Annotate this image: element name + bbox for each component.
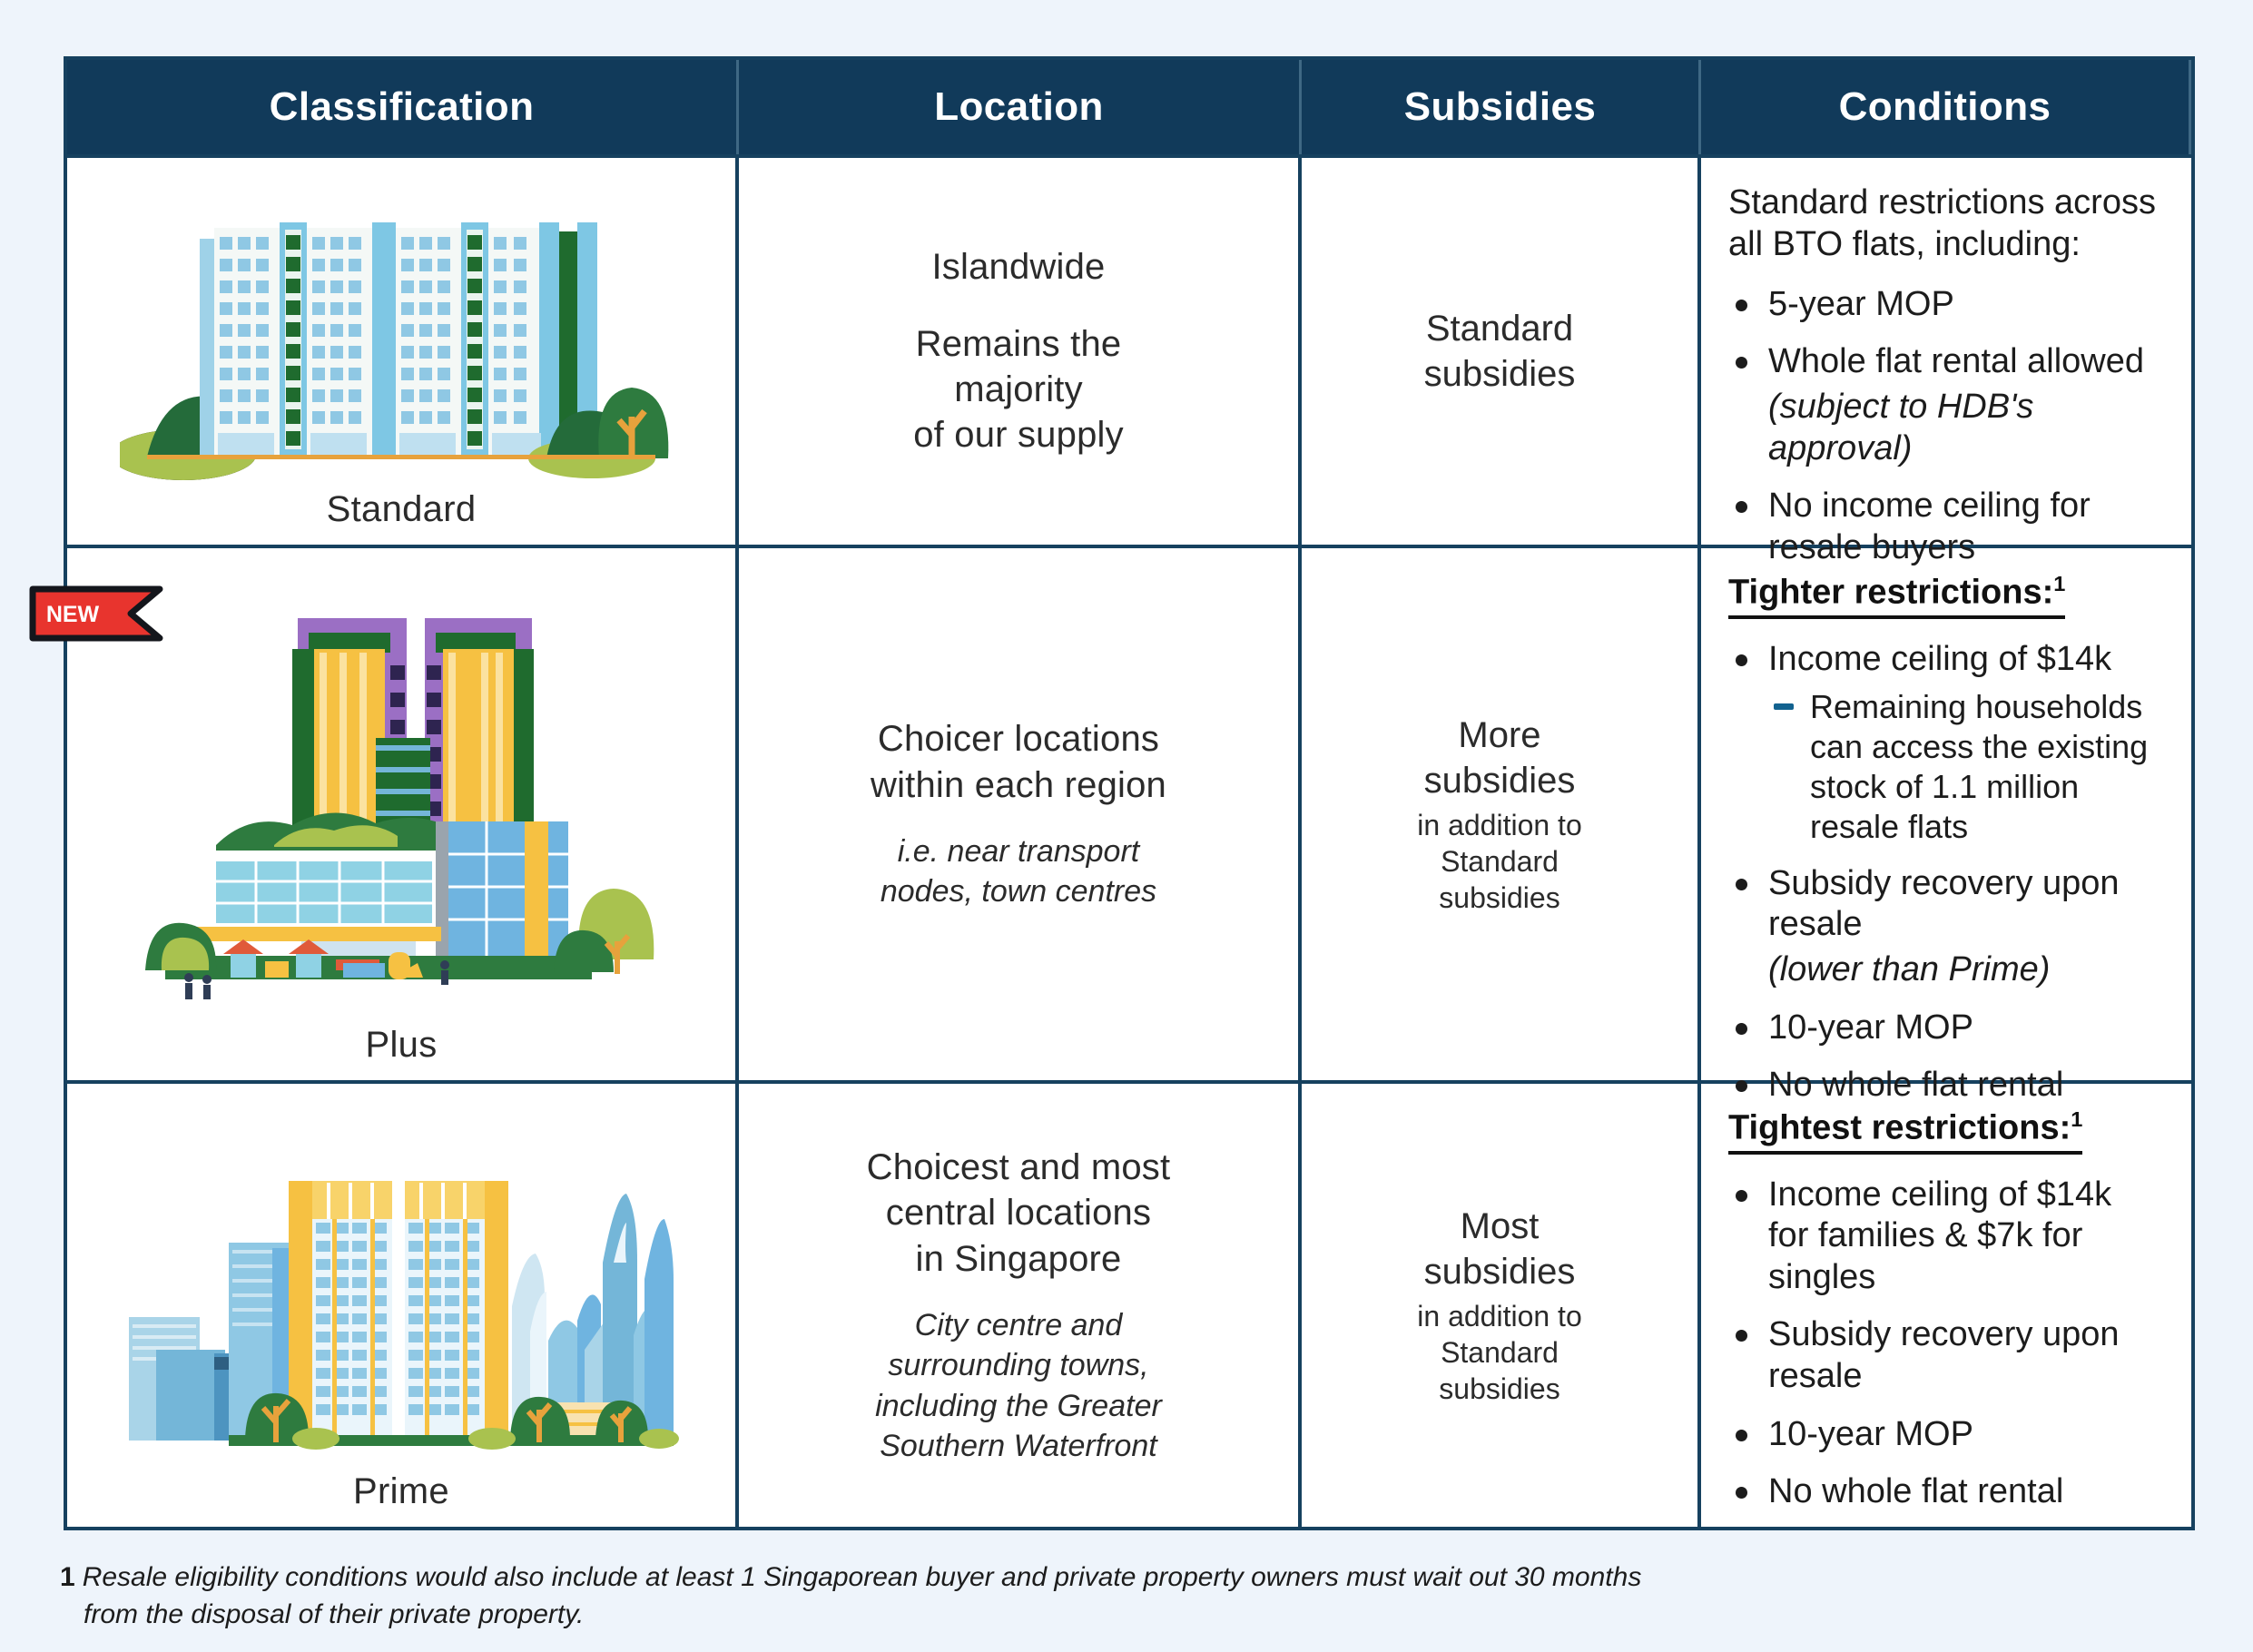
- location-main-prime: Choicest and mostcentral locationsin Sin…: [867, 1145, 1171, 1282]
- footnote: 1Resale eligibility conditions would als…: [60, 1559, 2166, 1633]
- conditions-title-text: Tighter restrictions:: [1728, 574, 2053, 612]
- cell-location-prime: Choicest and mostcentral locationsin Sin…: [739, 1084, 1302, 1527]
- condition-text: 10-year MOP: [1768, 1008, 1973, 1047]
- footnote-line-1: Resale eligibility conditions would also…: [83, 1562, 1642, 1592]
- header-label-location: Location: [934, 84, 1104, 130]
- conditions-intro-standard: Standard restrictions across all BTO fla…: [1728, 182, 2160, 266]
- new-badge-label: NEW: [46, 602, 100, 627]
- location-main-plus: Choicer locationswithin each region: [871, 716, 1166, 808]
- header-cell-classification: Classification: [67, 60, 739, 154]
- location-note-plus: i.e. near transportnodes, town centres: [881, 831, 1156, 911]
- conditions-list-plus: Income ceiling of $14k Remaining househo…: [1728, 639, 2160, 1123]
- condition-item: 10-year MOP: [1728, 1008, 2160, 1049]
- cell-classification-standard: Standard: [67, 158, 739, 545]
- condition-sublist: Remaining households can access the exis…: [1768, 687, 2160, 847]
- condition-text: Income ceiling of $14k: [1768, 640, 2111, 678]
- footnote-marker: 1: [2071, 1107, 2082, 1131]
- conditions-title-text: Tightest restrictions:: [1728, 1109, 2071, 1147]
- table-row-standard: Standard Islandwide Remains themajorityo…: [67, 154, 2191, 545]
- cell-subsidies-plus: Moresubsidies in addition toStandardsubs…: [1302, 548, 1701, 1080]
- condition-item: 5-year MOP: [1728, 284, 2160, 326]
- condition-text: No whole flat rental: [1768, 1472, 2063, 1510]
- subsidies-main-prime: Mostsubsidies: [1424, 1204, 1576, 1294]
- condition-item: Subsidy recovery upon resale (lower than…: [1728, 863, 2160, 991]
- conditions-list-prime: Income ceiling of $14k for families & $7…: [1728, 1175, 2160, 1529]
- condition-text: Income ceiling of $14k for families & $7…: [1768, 1175, 2111, 1296]
- footnote-line-2: from the disposal of their private prope…: [60, 1597, 2166, 1634]
- plus-towers-podium-playground-illustration: [129, 593, 674, 1019]
- classification-table: Classification Location Subsidies Condit…: [64, 56, 2195, 1530]
- footnote-number: 1: [60, 1562, 75, 1592]
- subsidies-note-prime: in addition toStandardsubsidies: [1417, 1298, 1581, 1408]
- header-label-classification: Classification: [270, 84, 535, 130]
- header-cell-location: Location: [739, 60, 1302, 154]
- conditions-list-standard: 5-year MOP Whole flat rental allowed (su…: [1728, 284, 2160, 585]
- condition-text: 5-year MOP: [1768, 285, 1954, 323]
- cell-conditions-plus: Tighter restrictions:1 Income ceiling of…: [1701, 548, 2191, 1080]
- subsidies-main-standard: Standardsubsidies: [1424, 306, 1576, 397]
- header-cell-subsidies: Subsidies: [1302, 60, 1701, 154]
- header-label-conditions: Conditions: [1839, 84, 2051, 130]
- cell-classification-plus: Plus: [67, 548, 739, 1080]
- standard-hdb-blocks-illustration: [120, 193, 683, 484]
- subsidies-main-plus: Moresubsidies: [1424, 713, 1576, 803]
- cell-subsidies-standard: Standardsubsidies: [1302, 158, 1701, 545]
- condition-item: No whole flat rental: [1728, 1471, 2160, 1513]
- classification-label-standard: Standard: [327, 489, 477, 530]
- header-label-subsidies: Subsidies: [1404, 84, 1596, 130]
- table-row-prime: Prime Choicest and mostcentral locations…: [67, 1080, 2191, 1527]
- table-header-row: Classification Location Subsidies Condit…: [67, 60, 2191, 154]
- condition-item: Income ceiling of $14k Remaining househo…: [1728, 639, 2160, 847]
- condition-text: Subsidy recovery upon resale: [1768, 864, 2120, 944]
- condition-text: 10-year MOP: [1768, 1415, 1973, 1453]
- header-cell-conditions: Conditions: [1701, 60, 2191, 154]
- subsidies-note-plus: in addition toStandardsubsidies: [1417, 807, 1581, 917]
- cell-location-standard: Islandwide Remains themajorityof our sup…: [739, 158, 1302, 545]
- location-main-standard: Islandwide: [931, 244, 1105, 290]
- prime-towers-cbd-skyline-illustration: [120, 1130, 683, 1466]
- condition-note: (subject to HDB's approval): [1768, 387, 2160, 469]
- condition-text: Subsidy recovery upon resale: [1768, 1315, 2120, 1395]
- cell-location-plus: Choicer locationswithin each region i.e.…: [739, 548, 1302, 1080]
- infographic-page: Classification Location Subsidies Condit…: [0, 0, 2253, 1652]
- table-row-plus: Plus Choicer locationswithin each region…: [67, 545, 2191, 1080]
- cell-conditions-standard: Standard restrictions across all BTO fla…: [1701, 158, 2191, 545]
- classification-label-prime: Prime: [353, 1471, 449, 1512]
- conditions-title-plus: Tighter restrictions:1: [1728, 572, 2065, 619]
- condition-note: (lower than Prime): [1768, 949, 2160, 991]
- location-note-prime: City centre andsurrounding towns,includi…: [875, 1305, 1162, 1466]
- conditions-title-prime: Tightest restrictions:1: [1728, 1107, 2082, 1155]
- condition-item: Whole flat rental allowed (subject to HD…: [1728, 341, 2160, 469]
- condition-text: Whole flat rental allowed: [1768, 342, 2144, 380]
- condition-item: Subsidy recovery upon resale: [1728, 1314, 2160, 1397]
- condition-subitem: Remaining households can access the exis…: [1768, 687, 2160, 847]
- condition-item: 10-year MOP: [1728, 1414, 2160, 1456]
- new-badge-ribbon: NEW: [29, 585, 163, 642]
- cell-conditions-prime: Tightest restrictions:1 Income ceiling o…: [1701, 1084, 2191, 1527]
- classification-label-plus: Plus: [365, 1025, 437, 1066]
- cell-subsidies-prime: Mostsubsidies in addition toStandardsubs…: [1302, 1084, 1701, 1527]
- condition-item: Income ceiling of $14k for families & $7…: [1728, 1175, 2160, 1299]
- cell-classification-prime: Prime: [67, 1084, 739, 1527]
- ribbon-icon: NEW: [29, 585, 163, 642]
- location-detail-standard: Remains themajorityof our supply: [913, 321, 1124, 458]
- footnote-marker: 1: [2053, 572, 2065, 595]
